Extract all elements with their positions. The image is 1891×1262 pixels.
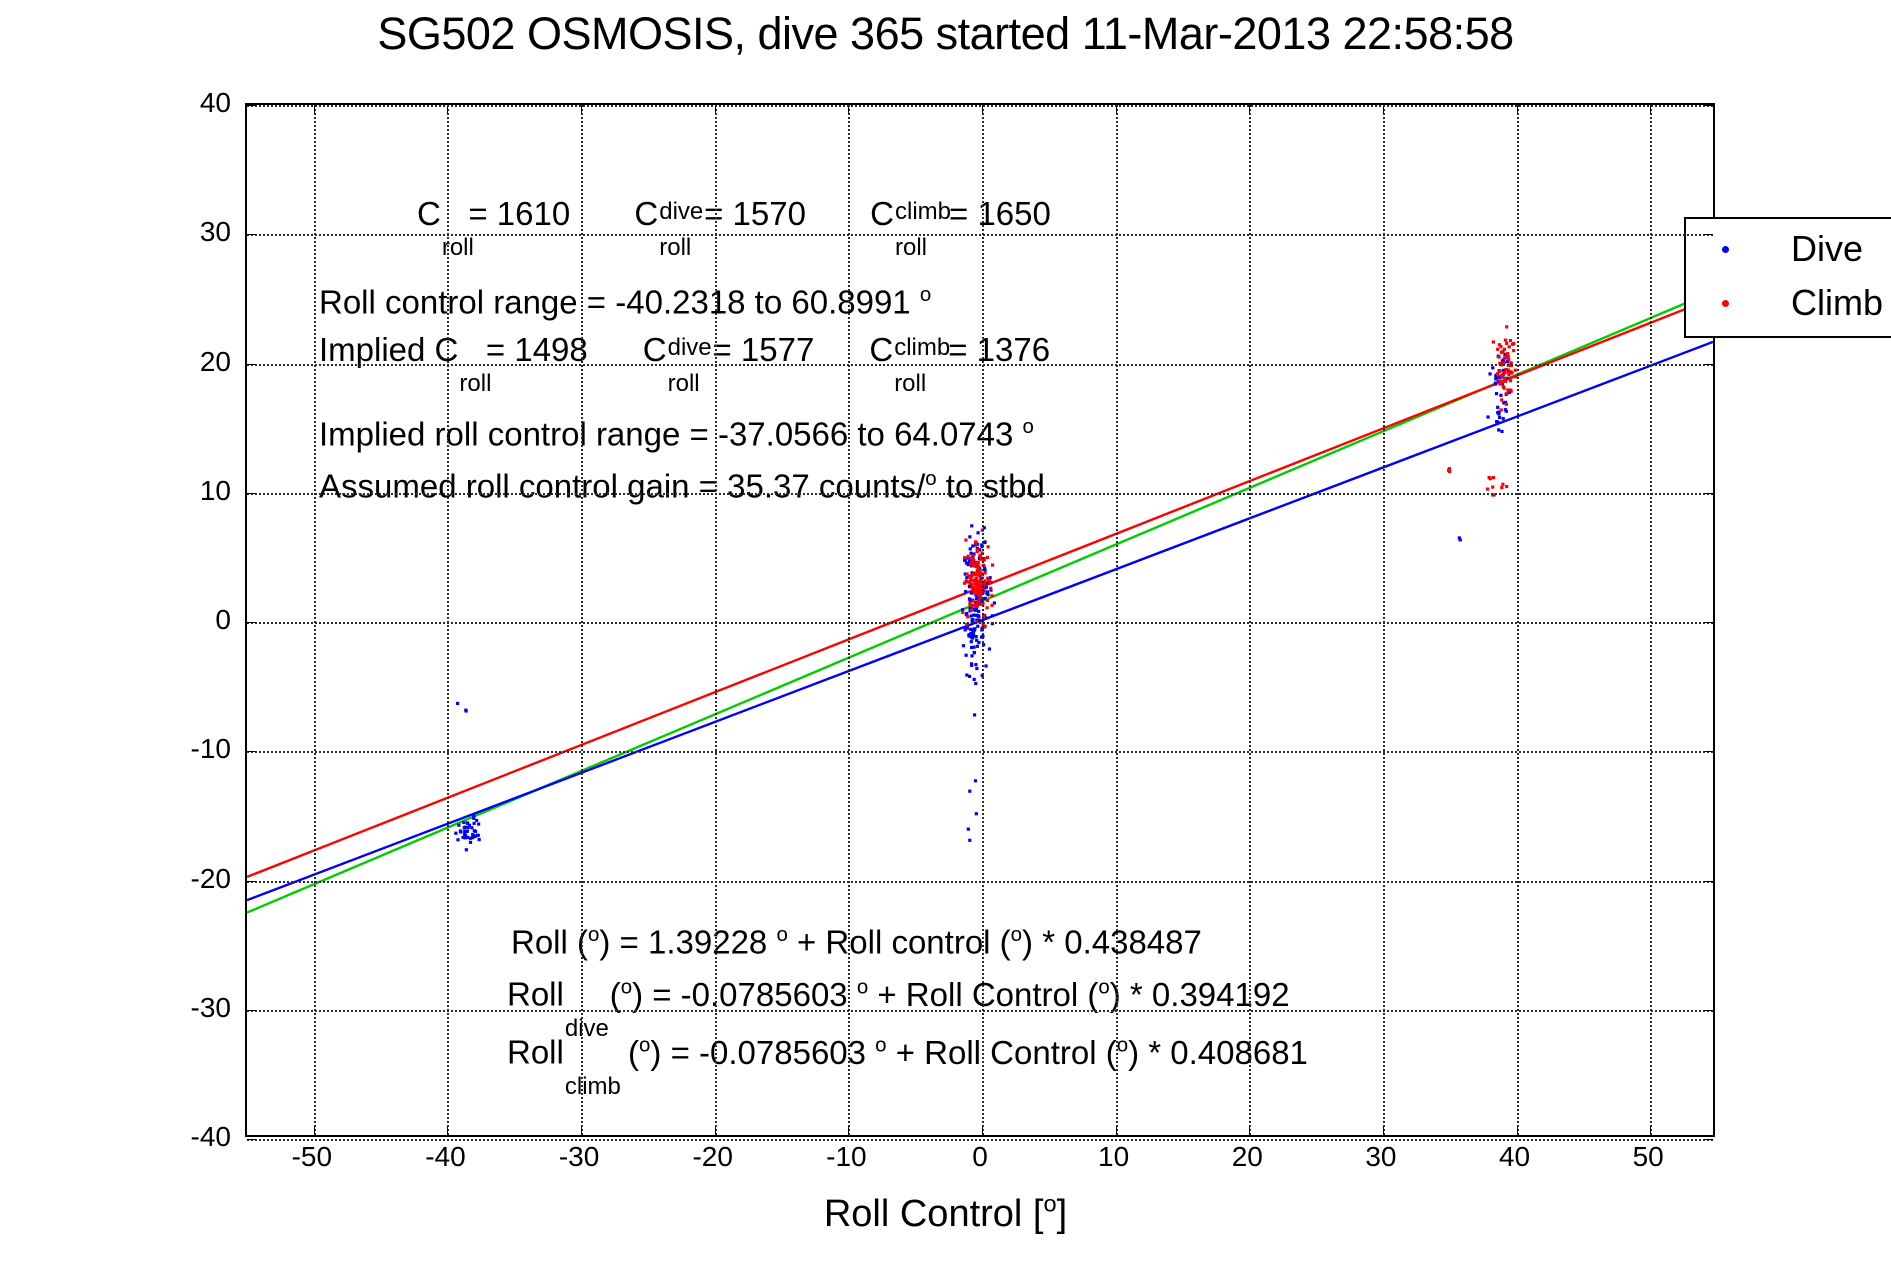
data-point [1494, 382, 1497, 385]
data-point [1492, 476, 1495, 479]
data-point [976, 531, 979, 534]
implied-c-climb-symbol: C [869, 331, 893, 368]
data-point [969, 628, 972, 631]
data-point [1505, 403, 1508, 406]
data-point [463, 826, 466, 829]
data-point [1510, 371, 1513, 374]
data-point [963, 556, 966, 559]
data-point [1506, 388, 1509, 391]
data-point [967, 828, 970, 831]
x-axis-tick [715, 1127, 716, 1135]
x-tick-label: -10 [826, 1141, 866, 1173]
x-axis-label-text: Roll Control [o] [824, 1193, 1067, 1235]
data-point [991, 563, 994, 566]
data-point [965, 580, 968, 583]
x-tick-label: 20 [1232, 1141, 1263, 1173]
data-point [975, 573, 978, 576]
y-tick-label: -20 [111, 863, 231, 895]
y-tick-label: -30 [111, 992, 231, 1024]
y-axis-tick [247, 364, 255, 365]
c-roll-value: = 1610 [468, 195, 570, 232]
equation-roll-climb-name: Roll [507, 1034, 564, 1071]
gridline-vertical [1249, 105, 1251, 1135]
data-point [973, 651, 976, 654]
gridline-horizontal [247, 364, 1713, 366]
gridline-vertical [1650, 105, 1652, 1135]
gridline-horizontal [247, 234, 1713, 236]
data-point [964, 628, 967, 631]
x-axis-tick [1650, 1127, 1651, 1135]
data-point [965, 572, 968, 575]
data-point [1506, 352, 1509, 355]
data-point [464, 834, 467, 837]
data-point [1488, 372, 1491, 375]
data-point [475, 819, 478, 822]
data-point [1498, 416, 1501, 419]
data-point [968, 598, 971, 601]
data-point [1508, 345, 1511, 348]
data-point [975, 812, 978, 815]
data-point [465, 830, 468, 833]
data-point [1500, 486, 1503, 489]
y-axis-tick [1705, 234, 1713, 235]
figure-title: SG502 OSMOSIS, dive 365 started 11-Mar-2… [0, 8, 1891, 60]
data-point [988, 647, 991, 650]
data-point [1509, 389, 1512, 392]
data-point [472, 834, 475, 837]
data-point [968, 839, 971, 842]
data-point [969, 547, 972, 550]
y-axis-tick [247, 1139, 255, 1140]
data-point [971, 575, 974, 578]
x-tick-label: 50 [1633, 1141, 1664, 1173]
equation-roll-climb-body: (o) = -0.0785603 o + Roll Control (o) * … [628, 1034, 1308, 1071]
y-tick-label: -10 [111, 733, 231, 765]
data-point [971, 554, 974, 557]
data-point [454, 832, 457, 835]
equation-roll-climb: Rollclimb (o) = -0.0785603 o + Roll Cont… [507, 1035, 1308, 1069]
data-point [976, 601, 979, 604]
x-axis-tick [447, 1127, 448, 1135]
implied-c-roll-value: = 1498 [486, 331, 588, 368]
data-point [1505, 325, 1508, 328]
data-point [985, 592, 988, 595]
c-roll-symbol: C [417, 195, 441, 232]
data-point [970, 646, 973, 649]
data-point [966, 615, 969, 618]
legend-label-dive: Dive [1791, 228, 1863, 270]
gridline-vertical [982, 105, 984, 1135]
data-point [1503, 371, 1506, 374]
gridline-vertical [447, 105, 449, 1135]
legend-marker-climb [1722, 300, 1729, 307]
data-point [462, 821, 465, 824]
data-point [1495, 392, 1498, 395]
x-axis-label: Roll Control [o] [0, 1190, 1891, 1236]
data-point [1499, 394, 1502, 397]
data-point [974, 682, 977, 685]
data-point [1512, 349, 1515, 352]
data-point [976, 583, 979, 586]
y-axis-tick [1705, 105, 1713, 106]
y-tick-label: 20 [111, 346, 231, 378]
data-point [975, 635, 978, 638]
data-point [1504, 380, 1507, 383]
data-point [468, 824, 471, 827]
data-point [1459, 538, 1462, 541]
y-tick-label: -40 [111, 1121, 231, 1153]
data-point [987, 545, 990, 548]
data-point [968, 535, 971, 538]
legend-entry-dive[interactable]: Dive [1686, 225, 1891, 273]
x-axis-tick [1116, 1127, 1117, 1135]
data-point [1486, 487, 1489, 490]
data-point [464, 709, 467, 712]
x-axis-tick [581, 1127, 582, 1135]
data-point [965, 561, 968, 564]
data-point [988, 581, 991, 584]
data-point [970, 609, 973, 612]
data-point [967, 555, 970, 558]
data-point [977, 564, 980, 567]
data-point [456, 838, 459, 841]
gridline-horizontal [247, 105, 1713, 107]
data-point [1511, 343, 1514, 346]
legend-marker-dive [1722, 246, 1729, 253]
gridline-vertical [314, 105, 316, 1135]
gridline-vertical [848, 105, 850, 1135]
data-point [1504, 339, 1507, 342]
data-point [970, 640, 973, 643]
gridline-horizontal [247, 622, 1713, 624]
data-point [961, 608, 964, 611]
y-axis-tick [1705, 881, 1713, 882]
gridline-horizontal [247, 1010, 1713, 1012]
data-point [1498, 343, 1501, 346]
data-point [974, 779, 977, 782]
data-point [1503, 348, 1506, 351]
gridline-horizontal [247, 493, 1713, 495]
data-point [970, 664, 973, 667]
x-axis-tick [1517, 1127, 1518, 1135]
data-point [1505, 485, 1508, 488]
data-point [1498, 355, 1501, 358]
data-point [1498, 379, 1501, 382]
data-point [977, 641, 980, 644]
y-axis-tick [1705, 364, 1713, 365]
data-point [477, 822, 480, 825]
data-point [1502, 385, 1505, 388]
data-point [1486, 415, 1489, 418]
legend-label-climb: Climb [1791, 282, 1883, 324]
data-point [989, 587, 992, 590]
data-point [1496, 406, 1499, 409]
data-point [1504, 368, 1507, 371]
data-point [1505, 410, 1508, 413]
data-point [972, 572, 975, 575]
y-axis-tick [247, 1010, 255, 1011]
annotation-line-3: Implied Croll = 1498 Cdiveroll = 1577 Cc… [319, 333, 1050, 366]
y-tick-label: 30 [111, 216, 231, 248]
data-point [1503, 356, 1506, 359]
data-point [1496, 411, 1499, 414]
data-point [965, 654, 968, 657]
gridline-vertical [581, 105, 583, 1135]
data-point [465, 848, 468, 851]
x-tick-label: 0 [972, 1141, 988, 1173]
y-tick-label: 0 [111, 604, 231, 636]
data-point [976, 550, 979, 553]
gridline-vertical [1517, 105, 1519, 1135]
y-axis-tick [247, 881, 255, 882]
c-roll-dive-value: = 1570 [704, 195, 806, 232]
data-point [1494, 377, 1497, 380]
data-point [986, 599, 989, 602]
data-point [984, 571, 987, 574]
data-point [977, 610, 980, 613]
equation-roll-dive-name: Roll [507, 976, 564, 1013]
y-axis-tick [1705, 493, 1713, 494]
data-point [473, 822, 476, 825]
data-point [1498, 370, 1501, 373]
data-point [1500, 408, 1503, 411]
data-point [969, 557, 972, 560]
data-point [965, 673, 968, 676]
data-point [973, 678, 976, 681]
data-point [478, 838, 481, 841]
data-point [975, 667, 978, 670]
x-axis-tick [1383, 1127, 1384, 1135]
data-point [1507, 355, 1510, 358]
data-point [1500, 398, 1503, 401]
data-point [984, 664, 987, 667]
data-point [977, 568, 980, 571]
data-point [972, 613, 975, 616]
data-point [477, 834, 480, 837]
y-axis-tick [247, 751, 255, 752]
data-point [964, 538, 967, 541]
data-point [975, 578, 978, 581]
data-point [473, 829, 476, 832]
data-point [1488, 476, 1491, 479]
data-point [973, 561, 976, 564]
data-point [977, 615, 980, 618]
x-axis-tick [1249, 1127, 1250, 1135]
data-point [472, 814, 475, 817]
data-point [977, 593, 980, 596]
data-point [974, 540, 977, 543]
gridline-horizontal [247, 881, 1713, 883]
x-tick-label: -50 [292, 1141, 332, 1173]
x-axis-tick [848, 1127, 849, 1135]
x-tick-label: -20 [692, 1141, 732, 1173]
annotation-implied-roll-control-range: Implied roll control range = -37.0566 to… [319, 417, 1034, 451]
data-point [991, 604, 994, 607]
data-point [968, 602, 971, 605]
y-axis-tick [1705, 1010, 1713, 1011]
data-point [1509, 339, 1512, 342]
data-point [1507, 371, 1510, 374]
data-point [986, 577, 989, 580]
legend-entry-climb[interactable]: Climb [1686, 279, 1891, 327]
data-point [1500, 351, 1503, 354]
implied-c-climb-value: = 1376 [948, 331, 1050, 368]
data-point [1448, 470, 1451, 473]
data-point [977, 599, 980, 602]
implied-c-dive-symbol: C [643, 331, 667, 368]
y-axis-tick [247, 105, 255, 106]
data-point [1501, 375, 1504, 378]
data-point [1492, 340, 1495, 343]
y-axis-tick [247, 493, 255, 494]
implied-c-roll-label: Implied C [319, 331, 458, 368]
data-point [1498, 382, 1501, 385]
x-tick-label: 30 [1365, 1141, 1396, 1173]
gridline-vertical [1383, 105, 1385, 1135]
data-point [1505, 342, 1508, 345]
y-axis-tick [247, 622, 255, 623]
data-point [970, 562, 973, 565]
c-roll-climb-symbol: C [870, 195, 894, 232]
data-point [970, 654, 973, 657]
data-point [456, 702, 459, 705]
c-roll-climb-value: = 1650 [949, 195, 1051, 232]
gridline-horizontal [247, 751, 1713, 753]
y-axis-tick [1705, 751, 1713, 752]
gridline-vertical [1116, 105, 1118, 1135]
data-point [976, 625, 979, 628]
equation-roll-dive: Rolldive (o) = -0.0785603 o + Roll Contr… [507, 977, 1290, 1011]
data-point [961, 611, 964, 614]
x-tick-label: -40 [425, 1141, 465, 1173]
data-point [968, 634, 971, 637]
data-point [1491, 366, 1494, 369]
data-point [962, 644, 965, 647]
y-axis-tick [1705, 622, 1713, 623]
x-tick-label: -30 [559, 1141, 599, 1173]
y-axis-label: Roll [o] [0, 505, 1, 615]
plot-axes: Croll = 1610 Cdiveroll = 1570 Cclimbroll… [245, 103, 1715, 1137]
data-point [459, 830, 462, 833]
data-point [969, 582, 972, 585]
data-point [972, 599, 975, 602]
data-point [971, 637, 974, 640]
x-tick-label: 10 [1098, 1141, 1129, 1173]
data-point [972, 590, 975, 593]
data-point [1505, 392, 1508, 395]
gridline-vertical [715, 105, 717, 1135]
data-point [970, 524, 973, 527]
annotation-assumed-roll-control-gain: Assumed roll control gain = 35.37 counts… [319, 469, 1045, 503]
data-point [974, 663, 977, 666]
data-point [973, 713, 976, 716]
legend[interactable]: Dive Climb [1684, 217, 1891, 338]
data-point [985, 606, 988, 609]
data-point [1509, 379, 1512, 382]
annotation-line-1: Croll = 1610 Cdiveroll = 1570 Cclimbroll… [417, 197, 1051, 230]
y-axis-tick [1705, 1139, 1713, 1140]
data-point [968, 790, 971, 793]
y-tick-label: 40 [111, 87, 231, 119]
data-point [1507, 358, 1510, 361]
x-tick-label: 40 [1499, 1141, 1530, 1173]
data-point [968, 675, 971, 678]
data-point [1501, 483, 1504, 486]
data-point [1497, 428, 1500, 431]
data-point [1496, 348, 1499, 351]
c-roll-dive-symbol: C [634, 195, 658, 232]
data-point [976, 645, 979, 648]
equation-roll-dive-body: (o) = -0.0785603 o + Roll Control (o) * … [610, 976, 1290, 1013]
data-point [971, 586, 974, 589]
implied-c-dive-value: = 1577 [712, 331, 814, 368]
data-point [1495, 420, 1498, 423]
data-point [1500, 430, 1503, 433]
data-point [1491, 486, 1494, 489]
data-point [986, 556, 989, 559]
data-point [971, 544, 974, 547]
data-point [976, 561, 979, 564]
y-tick-label: 10 [111, 475, 231, 507]
data-point [976, 605, 979, 608]
equation-roll-all: Roll (o) = 1.39228 o + Roll control (o) … [511, 925, 1202, 959]
data-point [990, 594, 993, 597]
annotation-roll-control-range: Roll control range = -40.2318 to 60.8991… [319, 285, 931, 319]
x-axis-tick [982, 1127, 983, 1135]
data-point [991, 614, 994, 617]
x-axis-tick [314, 1127, 315, 1135]
data-point [1502, 417, 1505, 420]
data-point [469, 841, 472, 844]
y-axis-tick [247, 234, 255, 235]
data-point [457, 824, 460, 827]
data-point [964, 590, 967, 593]
